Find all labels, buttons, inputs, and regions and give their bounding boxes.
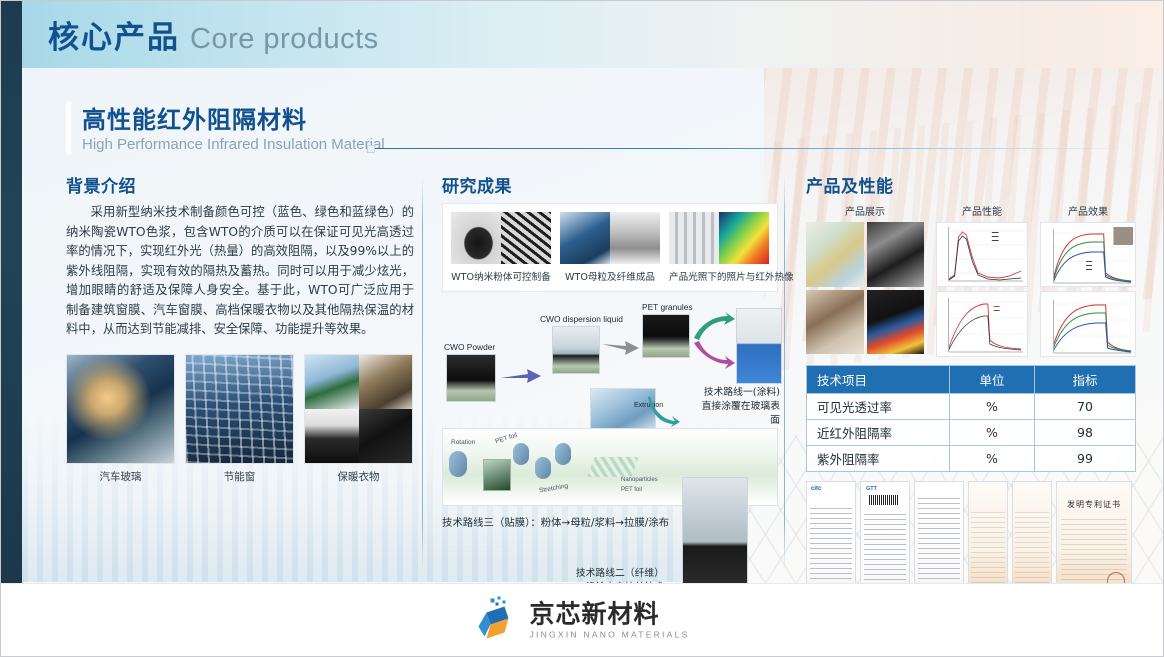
roller-icon	[555, 443, 571, 465]
section-rule	[374, 148, 1134, 149]
table-row: 紫外阻隔率 % 99	[807, 446, 1136, 472]
clothing-quadrant	[359, 409, 413, 463]
visible-light-photo	[669, 212, 719, 264]
patent-certificate-2	[1012, 481, 1052, 599]
pet-granules-photo	[642, 314, 690, 358]
glass-samples-photo	[806, 222, 864, 287]
left-accent-band	[0, 0, 22, 657]
research-results-row: WTO纳米粉体可控制备 WTO母粒及纤维成品	[451, 212, 769, 283]
nanoparticles-label: Nanoparticles	[621, 477, 658, 483]
flow-arrow-green	[692, 312, 736, 342]
product-performance-panel: 产品性能	[936, 203, 1028, 357]
wto-nano-powder-photo	[451, 212, 551, 264]
product-panel-row: 产品展示 产品性能	[806, 203, 1136, 357]
product-panel-caption: 产品展示	[806, 203, 924, 218]
table-cell-value: 99	[1035, 446, 1136, 472]
roller-icon	[449, 451, 467, 477]
product-panel-caption: 产品性能	[936, 203, 1028, 218]
product-panel-caption: 产品效果	[1040, 203, 1136, 218]
car-window-film-photo	[66, 354, 175, 464]
thermal-clothing-photo	[304, 354, 413, 464]
research-result-caption: 产品光照下的照片与红外热像	[669, 269, 769, 283]
product-title: 产品及性能	[806, 172, 1136, 197]
research-result-item: 产品光照下的照片与红外热像	[669, 212, 769, 283]
section-accent-bar	[66, 102, 71, 154]
product-performance-chart-bottom	[936, 291, 1028, 357]
research-result-caption: WTO纳米粉体可控制备	[451, 269, 551, 283]
roller-icon	[535, 457, 551, 479]
background-title: 背景介绍	[66, 172, 414, 197]
route-one-label: 技术路线一(涂料) 直接涂覆在玻璃表面	[700, 386, 780, 428]
research-result-item: WTO母粒及纤维成品	[560, 212, 660, 283]
stretching-label: Stretching	[539, 483, 569, 495]
flow-arrow-teal	[647, 394, 681, 428]
cwo-powder-scale-photo	[446, 354, 496, 402]
clothing-quadrant	[305, 355, 359, 409]
cwo-dispersion-beaker-photo	[552, 326, 600, 374]
specification-table: 技术项目 单位 指标 可见光透过率 % 70 近红外阻隔率 % 98	[806, 365, 1136, 472]
masterbatch-image	[560, 212, 610, 264]
table-header-unit: 单位	[950, 366, 1035, 394]
application-caption: 汽车玻璃	[66, 469, 175, 484]
table-cell-unit: %	[950, 446, 1035, 472]
product-display-photos	[806, 222, 924, 354]
table-row: 近红外阻隔率 % 98	[807, 420, 1136, 446]
route-one-line2: 直接涂覆在玻璃表面	[700, 400, 780, 428]
section-title-cn: 高性能红外阻隔材料	[82, 100, 307, 135]
clothing-quadrant	[305, 409, 359, 463]
column-divider-2	[784, 176, 785, 570]
column-divider-1	[422, 176, 423, 570]
nanoparticle-layer	[587, 457, 638, 477]
thermal-monitor-photo	[867, 290, 925, 355]
table-cell-item: 可见光透过率	[807, 394, 950, 420]
product-display-panel: 产品展示	[806, 203, 924, 357]
test-report-generic	[914, 481, 964, 599]
application-demo-photo	[806, 290, 864, 355]
section-rule-marker	[367, 145, 375, 153]
research-results-card: WTO纳米粉体可控制备 WTO母粒及纤维成品	[442, 203, 778, 292]
product-performance-chart-top	[936, 222, 1028, 287]
flow-arrow-purple	[692, 340, 736, 372]
product-effect-chart-top	[1040, 222, 1136, 287]
application-photo-row: 汽车玻璃 节能窗 保暖衣物	[66, 354, 414, 484]
logo-mark-icon	[475, 596, 521, 645]
slide: 核心产品Core products 高性能红外阻隔材料 High Perform…	[0, 0, 1164, 657]
table-cell-item: 近红外阻隔率	[807, 420, 950, 446]
header-title-cn: 核心产品	[48, 20, 180, 56]
application-item: 保暖衣物	[304, 354, 413, 484]
logo-text: 京芯新材料 JINGXIN NANO MATERIALS	[530, 602, 690, 640]
header-title: 核心产品Core products	[48, 12, 379, 57]
process-flow-diagram: CWO Powder CWO dispersion liquid PET gra…	[442, 306, 778, 414]
test-report-citc: citc	[806, 481, 856, 599]
test-report-gtt: GTT	[860, 481, 910, 599]
energy-saving-window-photo	[185, 354, 294, 464]
patent-certificate-1	[968, 481, 1008, 599]
table-row: 可见光透过率 % 70	[807, 394, 1136, 420]
research-result-caption: WTO母粒及纤维成品	[560, 269, 660, 283]
flow-step-label: CWO Powder	[444, 342, 495, 352]
film-sample-inset	[483, 459, 511, 491]
flow-step-label: CWO dispersion liquid	[540, 314, 623, 324]
application-caption: 保暖衣物	[304, 469, 413, 484]
application-item: 节能窗	[185, 354, 294, 484]
header-title-en: Core products	[190, 23, 379, 55]
route-two-line1: 技术路线二（纤维）	[552, 567, 664, 581]
powder-dish-image	[451, 212, 501, 264]
product-effect-chart-bottom	[1040, 291, 1136, 357]
table-header-row: 技术项目 单位 指标	[807, 366, 1136, 394]
pet-foil-label: PET foil	[494, 432, 518, 446]
slide-header: 核心产品Core products	[22, 0, 1164, 68]
slide-stage: 核心产品Core products 高性能红外阻隔材料 High Perform…	[22, 0, 1164, 657]
flow-arrow-2	[602, 340, 640, 356]
background-paragraph: 采用新型纳米技术制备颜色可控（蓝色、绿色和蓝绿色）的纳米陶瓷WTO色浆，包含WT…	[66, 203, 414, 340]
application-caption: 节能窗	[185, 469, 294, 484]
clothing-quadrant	[359, 355, 413, 409]
company-logo: 京芯新材料 JINGXIN NANO MATERIALS	[475, 596, 690, 645]
patent-certificate-3: 发明专利证书	[1056, 481, 1132, 599]
patent-certificate-title: 发明专利证书	[1057, 499, 1131, 510]
flow-arrow-1	[500, 368, 542, 384]
research-result-item: WTO纳米粉体可控制备	[451, 212, 551, 283]
table-cell-item: 紫外阻隔率	[807, 446, 950, 472]
column-product: 产品及性能 产品展示 产品性能	[806, 172, 1136, 599]
rotation-label: Rotation	[451, 439, 475, 446]
table-cell-value: 98	[1035, 420, 1136, 446]
table-cell-unit: %	[950, 394, 1035, 420]
powder-sem-image	[501, 212, 551, 264]
thermal-camera-image	[719, 212, 769, 264]
wto-masterbatch-fiber-photo	[560, 212, 660, 264]
logo-name-cn: 京芯新材料	[530, 602, 690, 627]
product-effect-panel: 产品效果	[1040, 203, 1136, 357]
logo-name-en: JINGXIN NANO MATERIALS	[530, 631, 690, 640]
section-title-en: High Performance Infrared Insulation Mat…	[82, 136, 385, 153]
column-research: 研究成果 WTO纳米粉体可控制备	[442, 172, 778, 629]
application-item: 汽车玻璃	[66, 354, 175, 484]
coating-sample-vials-photo	[736, 308, 782, 384]
fiber-spool-image	[610, 212, 660, 264]
route-one-line1: 技术路线一(涂料)	[700, 386, 780, 400]
packaged-material-photo	[867, 222, 925, 287]
column-background: 背景介绍 采用新型纳米技术制备颜色可控（蓝色、绿色和蓝绿色）的纳米陶瓷WTO色浆…	[66, 172, 414, 484]
slide-footer: 京芯新材料 JINGXIN NANO MATERIALS	[0, 583, 1164, 657]
infrared-thermal-image-photo	[669, 212, 769, 264]
table-header-value: 指标	[1035, 366, 1136, 394]
table-header-item: 技术项目	[807, 366, 950, 394]
research-title: 研究成果	[442, 172, 778, 197]
roller-icon	[513, 443, 529, 465]
certificate-row: citc GTT 发明专利证书	[806, 481, 1136, 599]
table-cell-unit: %	[950, 420, 1035, 446]
pet-foil-label-2: PET foil	[621, 487, 642, 493]
table-cell-value: 70	[1035, 394, 1136, 420]
flow-step-label: PET granules	[642, 302, 693, 312]
